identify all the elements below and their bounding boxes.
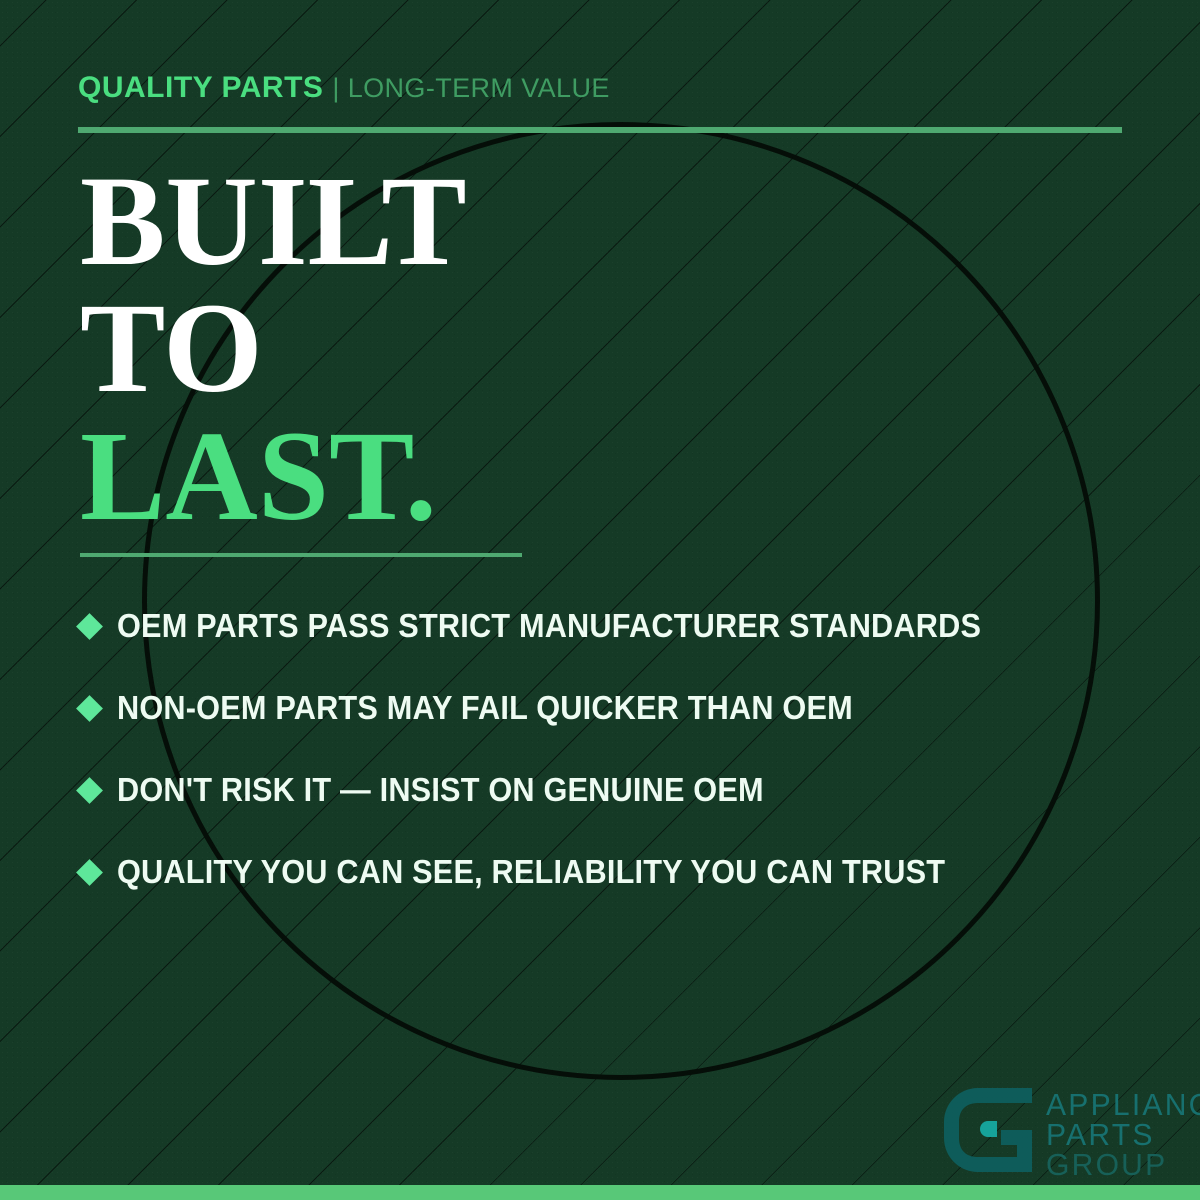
top-divider-rule	[78, 127, 1122, 133]
brand-word-appliance: APPLIANCE	[1046, 1090, 1200, 1120]
headline-line-2: TO	[80, 285, 467, 412]
list-item: OEM PARTS PASS STRICT MANUFACTURER STAND…	[80, 585, 1150, 667]
brand-word-group: GROUP	[1046, 1150, 1200, 1180]
list-item-label: QUALITY YOU CAN SEE, RELIABILITY YOU CAN…	[117, 853, 945, 891]
diamond-bullet-icon	[76, 777, 103, 804]
brand-wordmark: APPLIANCE PARTS GROUP	[1046, 1088, 1200, 1179]
g-monogram-icon	[944, 1088, 1032, 1172]
eyebrow-header: QUALITY PARTS | LONG-TERM VALUE	[78, 73, 610, 103]
eyebrow-sub-label: | LONG-TERM VALUE	[332, 75, 609, 102]
diamond-bullet-icon	[76, 859, 103, 886]
headline-line-1: BUILT	[80, 158, 467, 285]
page-title: BUILT TO LAST.	[80, 158, 467, 540]
list-item: DON'T RISK IT — INSIST ON GENUINE OEM	[80, 749, 1150, 831]
eyebrow-main-label: QUALITY PARTS	[78, 73, 323, 103]
list-item-label: OEM PARTS PASS STRICT MANUFACTURER STAND…	[117, 607, 981, 645]
poster-content: QUALITY PARTS | LONG-TERM VALUE BUILT TO…	[0, 0, 1200, 1200]
list-item: NON-OEM PARTS MAY FAIL QUICKER THAN OEM	[80, 667, 1150, 749]
diamond-bullet-icon	[76, 613, 103, 640]
brand-logo: APPLIANCE PARTS GROUP	[944, 1088, 1200, 1179]
poster-canvas: QUALITY PARTS | LONG-TERM VALUE BUILT TO…	[0, 0, 1200, 1200]
list-item: QUALITY YOU CAN SEE, RELIABILITY YOU CAN…	[80, 831, 1150, 913]
brand-word-parts: PARTS	[1046, 1120, 1200, 1150]
list-item-label: DON'T RISK IT — INSIST ON GENUINE OEM	[117, 771, 764, 809]
list-item-label: NON-OEM PARTS MAY FAIL QUICKER THAN OEM	[117, 689, 853, 727]
diamond-bullet-icon	[76, 695, 103, 722]
headline-divider-rule	[80, 553, 522, 557]
benefits-list: OEM PARTS PASS STRICT MANUFACTURER STAND…	[80, 585, 1150, 913]
headline-line-3: LAST.	[80, 413, 467, 540]
bottom-accent-bar	[0, 1185, 1200, 1200]
